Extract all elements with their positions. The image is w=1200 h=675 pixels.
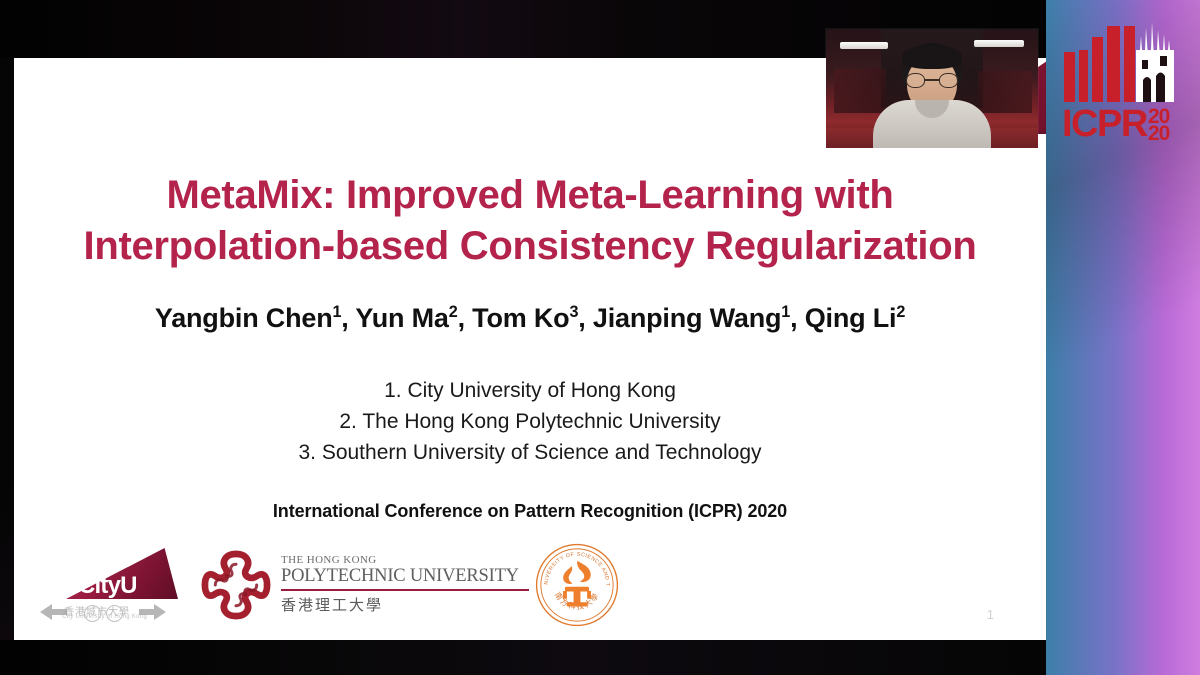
presenter-video[interactable]: [826, 29, 1038, 148]
polyu-text-block: THE HONG KONG POLYTECHNIC UNIVERSITY 香港理…: [281, 554, 529, 615]
icpr-logo: ICPR 20 20: [1056, 10, 1192, 142]
slide-navigation[interactable]: [38, 600, 168, 626]
cathedral-icon: [1136, 22, 1174, 102]
affiliation-list: 1. City University of Hong Kong 2. The H…: [14, 376, 1046, 469]
author-affiliation-marker: 1: [332, 303, 341, 321]
webcam-light-strip: [974, 40, 1024, 47]
polyu-rule: [281, 589, 529, 590]
affiliation-item: 3. Southern University of Science and Te…: [14, 438, 1046, 469]
affiliation-item: 1. City University of Hong Kong: [14, 376, 1046, 407]
affiliation-item: 2. The Hong Kong Polytechnic University: [14, 407, 1046, 438]
author-name: Jianping Wang: [593, 303, 781, 333]
author-affiliation-marker: 1: [781, 303, 790, 321]
cityu-logo-wordmark: CityU: [78, 572, 137, 600]
icpr-year-bottom: 20: [1148, 122, 1170, 142]
polyu-line-1: THE HONG KONG: [281, 554, 529, 566]
webcam-side-panel-left: [834, 69, 886, 113]
title-line-1: MetaMix: Improved Meta-Learning with: [40, 170, 1020, 221]
webcam-light-strip: [840, 42, 888, 49]
presenter-fringe: [902, 45, 962, 69]
author-affiliation-marker: 2: [896, 303, 905, 321]
author-list: Yangbin Chen1, Yun Ma2, Tom Ko3, Jianpin…: [14, 303, 1046, 334]
conference-line: International Conference on Pattern Reco…: [14, 501, 1046, 522]
glasses-lens-right: [939, 73, 958, 88]
polyu-line-3: 香港理工大學: [281, 594, 529, 615]
prev-slide-arrow-icon[interactable]: [38, 600, 68, 624]
author-name: Yun Ma: [355, 303, 448, 333]
icpr-wordmark: ICPR: [1062, 103, 1148, 142]
next-slide-arrow-icon[interactable]: [138, 600, 168, 624]
author-name: Tom Ko: [472, 303, 569, 333]
author-name: Qing Li: [805, 303, 897, 333]
sustech-logo: SOUTHERN UNIVERSITY OF SCIENCE AND TECHN…: [534, 542, 620, 628]
webcam-side-panel-right: [978, 71, 1032, 113]
title-line-2: Interpolation-based Consistency Regulari…: [40, 221, 1020, 272]
slide-number: 1: [987, 607, 994, 622]
glasses-lens-left: [906, 73, 925, 88]
polyu-logo: THE HONG KONG POLYTECHNIC UNIVERSITY 香港理…: [199, 544, 529, 626]
presenter-glasses-icon: [906, 73, 958, 89]
footer-logo-row: CityU 香港城市大學 City University of Hong Kon…: [14, 530, 654, 640]
author-affiliation-marker: 3: [569, 303, 578, 321]
page-title: MetaMix: Improved Meta-Learning with Int…: [14, 170, 1046, 272]
polyu-line-2: POLYTECHNIC UNIVERSITY: [281, 566, 529, 587]
author-name: Yangbin Chen: [155, 303, 333, 333]
icpr-bars: [1064, 26, 1135, 102]
backdrop-bottom-bar: [0, 640, 1046, 675]
author-affiliation-marker: 2: [449, 303, 458, 321]
glasses-bridge: [925, 79, 939, 81]
polyu-knot-icon: [199, 548, 273, 622]
svg-text:SOUTHERN UNIVERSITY OF SCIENCE: SOUTHERN UNIVERSITY OF SCIENCE AND TECHN…: [534, 542, 610, 587]
